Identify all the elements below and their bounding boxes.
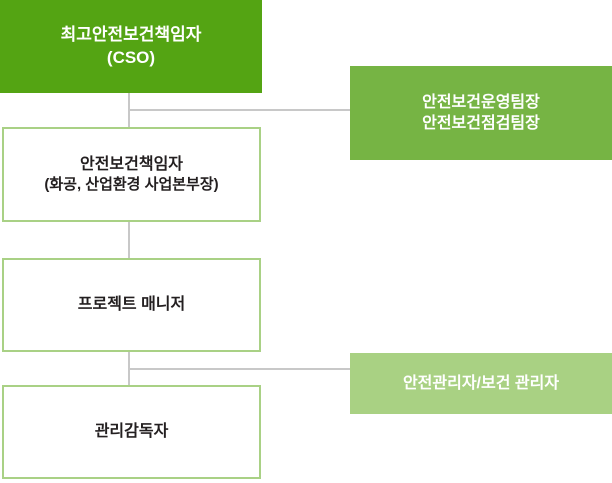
node-cso: 최고안전보건책임자 (CSO): [0, 0, 262, 93]
node-cso-line-2: (CSO): [107, 47, 155, 70]
node-supervisor: 관리감독자: [2, 385, 261, 479]
node-safety-health-officer-line-1: 안전보건책임자: [80, 154, 183, 175]
connector-cso-to-team-leaders: [128, 109, 352, 111]
connector-project-manager-to-managers: [128, 368, 352, 370]
node-team-leaders-line-2: 안전보건점검팀장: [422, 113, 540, 134]
node-managers-line-1: 안전관리자/보건 관리자: [403, 373, 559, 394]
connector-officer-to-project-manager: [128, 221, 130, 259]
node-safety-health-officer-line-2: (화공, 산업환경 사업본부장): [44, 175, 218, 195]
node-supervisor-line-1: 관리감독자: [95, 421, 169, 442]
node-team-leaders-line-1: 안전보건운영팀장: [422, 92, 540, 113]
node-project-manager-line-1: 프로젝트 매니저: [78, 294, 186, 315]
node-managers: 안전관리자/보건 관리자: [350, 353, 612, 414]
org-chart-diagram: 최고안전보건책임자 (CSO) 안전보건운영팀장 안전보건점검팀장 안전보건책임…: [0, 0, 612, 483]
node-team-leaders: 안전보건운영팀장 안전보건점검팀장: [350, 66, 612, 160]
node-cso-line-1: 최고안전보건책임자: [61, 24, 202, 47]
node-project-manager: 프로젝트 매니저: [2, 258, 261, 352]
node-safety-health-officer: 안전보건책임자 (화공, 산업환경 사업본부장): [2, 127, 261, 222]
